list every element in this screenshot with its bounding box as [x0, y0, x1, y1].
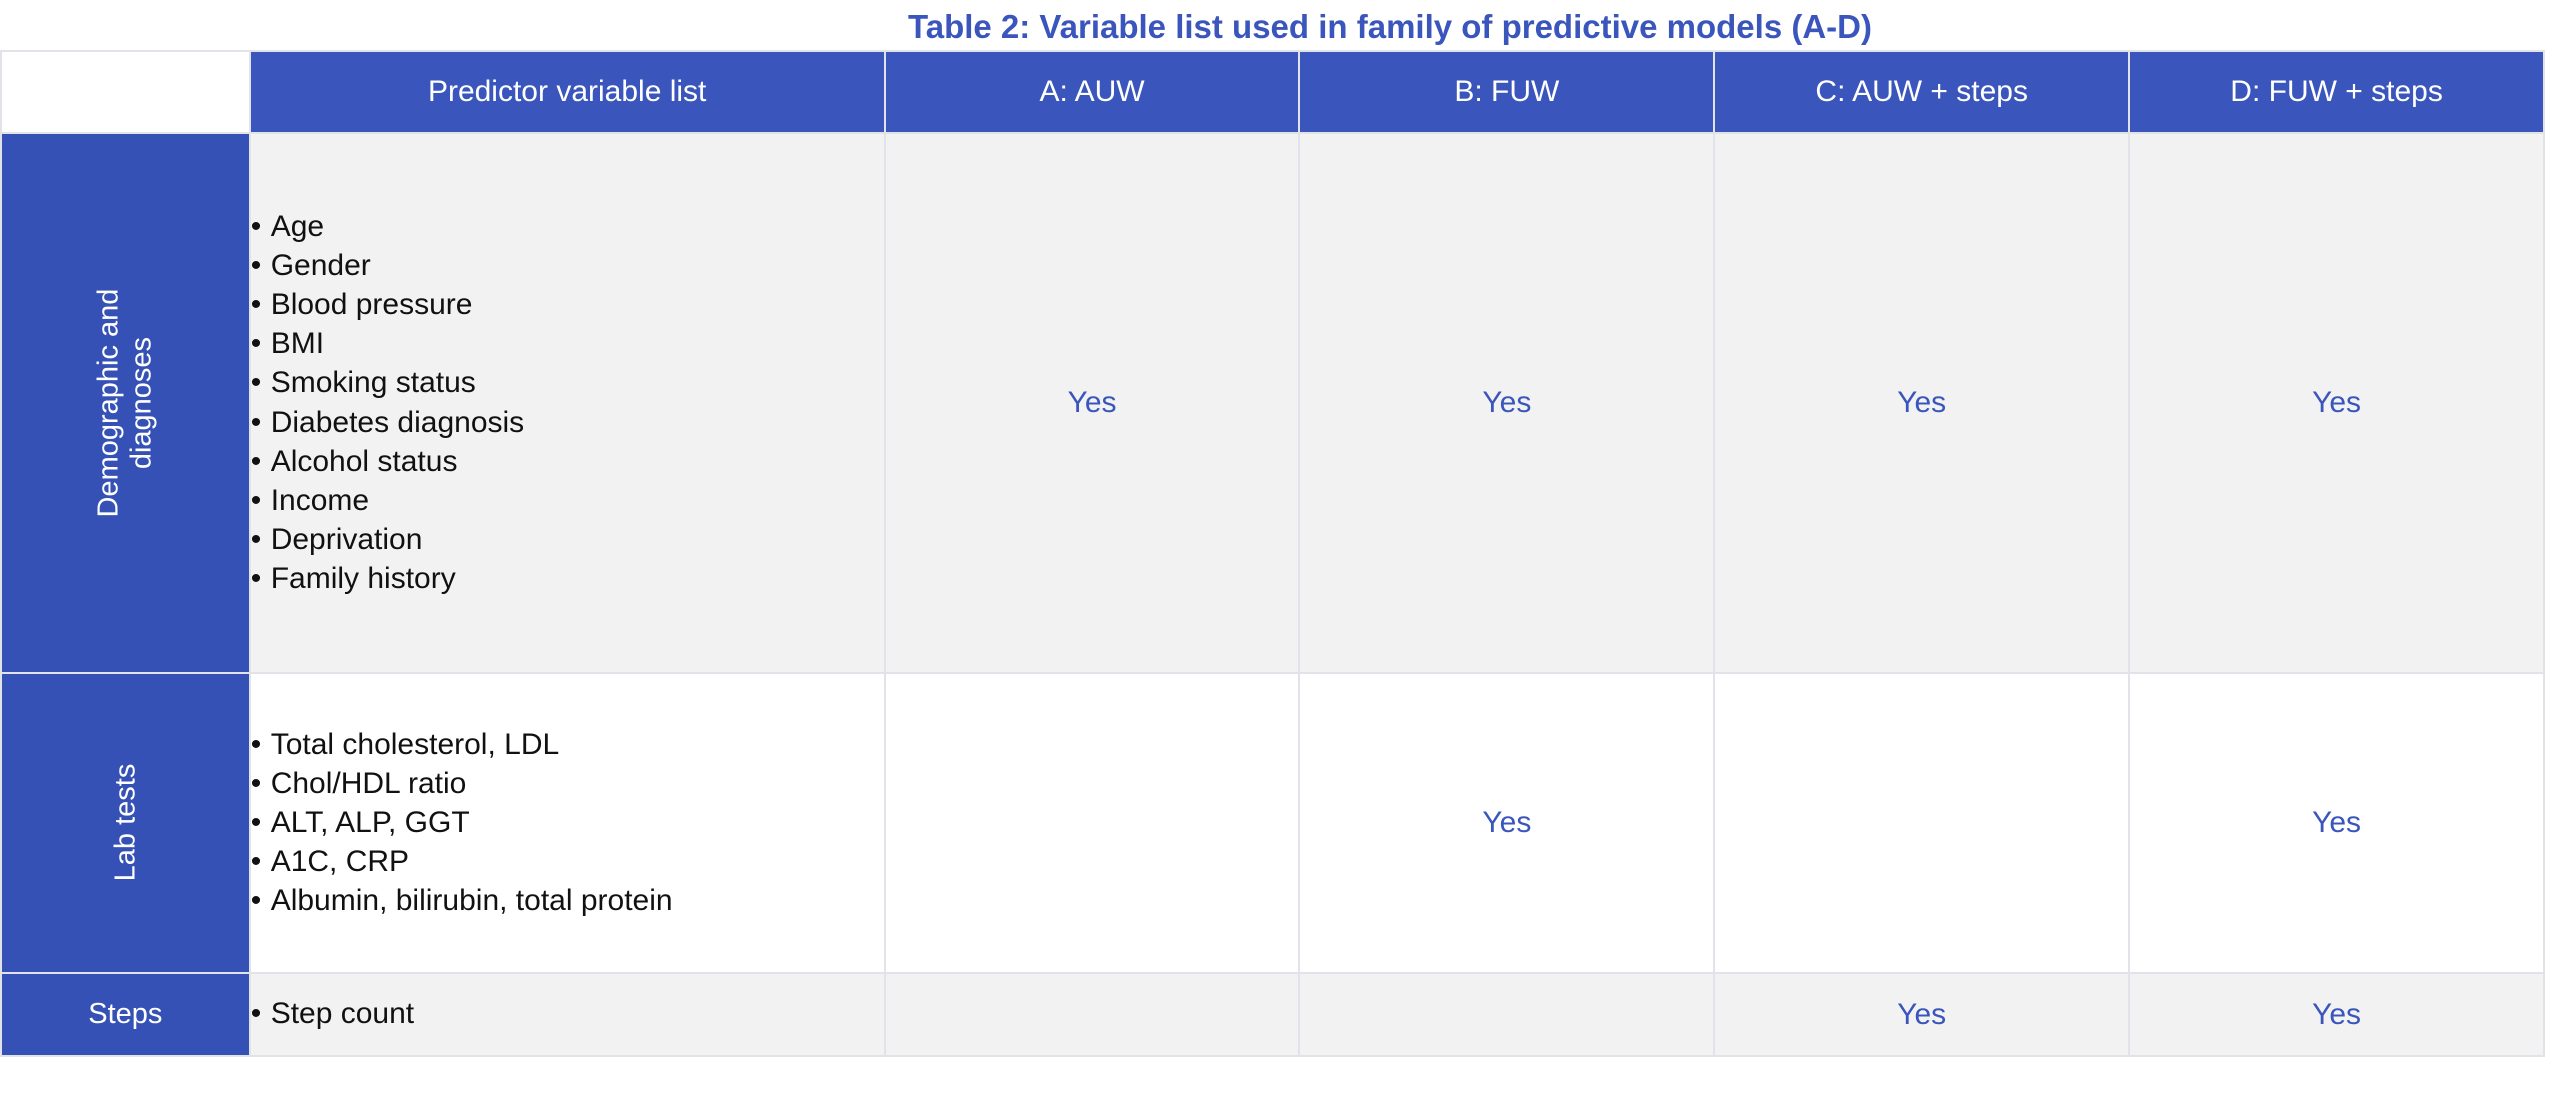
variable-list-table: Predictor variable list A: AUW B: FUW C:…	[0, 50, 2545, 1057]
bullet-icon: •	[251, 768, 271, 800]
cell-steps-model-d: Yes	[2129, 973, 2544, 1056]
list-item-label: Chol/HDL ratio	[271, 767, 467, 800]
list-item-label: Age	[271, 210, 324, 243]
list-item-label: Smoking status	[271, 366, 476, 399]
header-model-a: A: AUW	[885, 51, 1300, 133]
table-row: Steps •Step count Yes Yes	[1, 973, 2544, 1056]
bullet-icon: •	[251, 485, 271, 517]
bullet-icon: •	[251, 846, 271, 878]
cell-lab-tests-model-a	[885, 673, 1300, 973]
cell-steps-model-a	[885, 973, 1300, 1056]
list-item: •Step count	[251, 998, 884, 1030]
cell-steps-model-b	[1299, 973, 1714, 1056]
table-figure: Table 2: Variable list used in family of…	[0, 0, 2560, 1113]
bullet-icon: •	[251, 524, 271, 556]
header-model-b: B: FUW	[1299, 51, 1714, 133]
predictor-items: •Total cholesterol, LDL •Chol/HDL ratio …	[251, 729, 884, 917]
list-item-label: BMI	[271, 327, 324, 360]
list-item: •Chol/HDL ratio	[251, 768, 884, 800]
row-label-text: Steps	[88, 998, 162, 1030]
header-predictor-variable-list: Predictor variable list	[250, 51, 885, 133]
row-label-steps: Steps	[1, 973, 250, 1056]
list-item-label: Blood pressure	[271, 288, 473, 321]
table-header: Predictor variable list A: AUW B: FUW C:…	[1, 51, 2544, 133]
header-model-c: C: AUW + steps	[1714, 51, 2129, 133]
cell-lab-tests-model-b: Yes	[1299, 673, 1714, 973]
row-label-text: Lab tests	[109, 764, 142, 882]
cell-lab-tests-model-c	[1714, 673, 2129, 973]
list-item-label: Gender	[271, 249, 371, 282]
list-item: •ALT, ALP, GGT	[251, 807, 884, 839]
cell-lab-tests-model-d: Yes	[2129, 673, 2544, 973]
bullet-icon: •	[251, 563, 271, 595]
list-item-label: Diabetes diagnosis	[271, 406, 525, 439]
list-item-label: Alcohol status	[271, 445, 458, 478]
bullet-icon: •	[251, 289, 271, 321]
list-item: •Total cholesterol, LDL	[251, 729, 884, 761]
list-item-label: Income	[271, 484, 369, 517]
cell-demographic-model-c: Yes	[1714, 133, 2129, 673]
list-item-label: ALT, ALP, GGT	[271, 806, 470, 839]
list-item: •Blood pressure	[251, 289, 884, 321]
bullet-icon: •	[251, 885, 271, 917]
bullet-icon: •	[251, 446, 271, 478]
list-item: •Deprivation	[251, 524, 884, 556]
bullet-icon: •	[251, 367, 271, 399]
predictor-items: •Age •Gender •Blood pressure •BMI •Smoki…	[251, 211, 884, 595]
row-label-demographic-and-diagnoses: Demographic and diagnoses	[1, 133, 250, 673]
list-item-label: Family history	[271, 562, 456, 595]
list-item: •Alcohol status	[251, 446, 884, 478]
list-item-label: A1C, CRP	[271, 845, 409, 878]
predictor-list-demographic: •Age •Gender •Blood pressure •BMI •Smoki…	[250, 133, 885, 673]
header-model-d: D: FUW + steps	[2129, 51, 2544, 133]
bullet-icon: •	[251, 807, 271, 839]
bullet-icon: •	[251, 250, 271, 282]
predictor-list-lab-tests: •Total cholesterol, LDL •Chol/HDL ratio …	[250, 673, 885, 973]
list-item: •Income	[251, 485, 884, 517]
header-corner-cell	[1, 51, 250, 133]
bullet-icon: •	[251, 328, 271, 360]
bullet-icon: •	[251, 211, 271, 243]
list-item: •BMI	[251, 328, 884, 360]
list-item: •Diabetes diagnosis	[251, 407, 884, 439]
list-item: •A1C, CRP	[251, 846, 884, 878]
table-row: Demographic and diagnoses •Age •Gender •…	[1, 133, 2544, 673]
list-item: •Family history	[251, 563, 884, 595]
row-label-lab-tests: Lab tests	[1, 673, 250, 973]
predictor-list-steps: •Step count	[250, 973, 885, 1056]
list-item: •Age	[251, 211, 884, 243]
list-item-label: Total cholesterol, LDL	[271, 728, 560, 761]
list-item: •Albumin, bilirubin, total protein	[251, 885, 884, 917]
list-item-label: Step count	[271, 997, 414, 1030]
header-row: Predictor variable list A: AUW B: FUW C:…	[1, 51, 2544, 133]
predictor-items: •Step count	[251, 998, 884, 1030]
bullet-icon: •	[251, 729, 271, 761]
cell-demographic-model-a: Yes	[885, 133, 1300, 673]
list-item: •Gender	[251, 250, 884, 282]
table-row: Lab tests •Total cholesterol, LDL •Chol/…	[1, 673, 2544, 973]
page-title: Table 2: Variable list used in family of…	[235, 4, 2545, 50]
cell-steps-model-c: Yes	[1714, 973, 2129, 1056]
list-item-label: Albumin, bilirubin, total protein	[271, 884, 673, 917]
list-item-label: Deprivation	[271, 523, 423, 556]
cell-demographic-model-d: Yes	[2129, 133, 2544, 673]
list-item: •Smoking status	[251, 367, 884, 399]
bullet-icon: •	[251, 998, 271, 1030]
row-label-text: Demographic and diagnoses	[92, 289, 158, 518]
table-body: Demographic and diagnoses •Age •Gender •…	[1, 133, 2544, 1056]
bullet-icon: •	[251, 407, 271, 439]
cell-demographic-model-b: Yes	[1299, 133, 1714, 673]
